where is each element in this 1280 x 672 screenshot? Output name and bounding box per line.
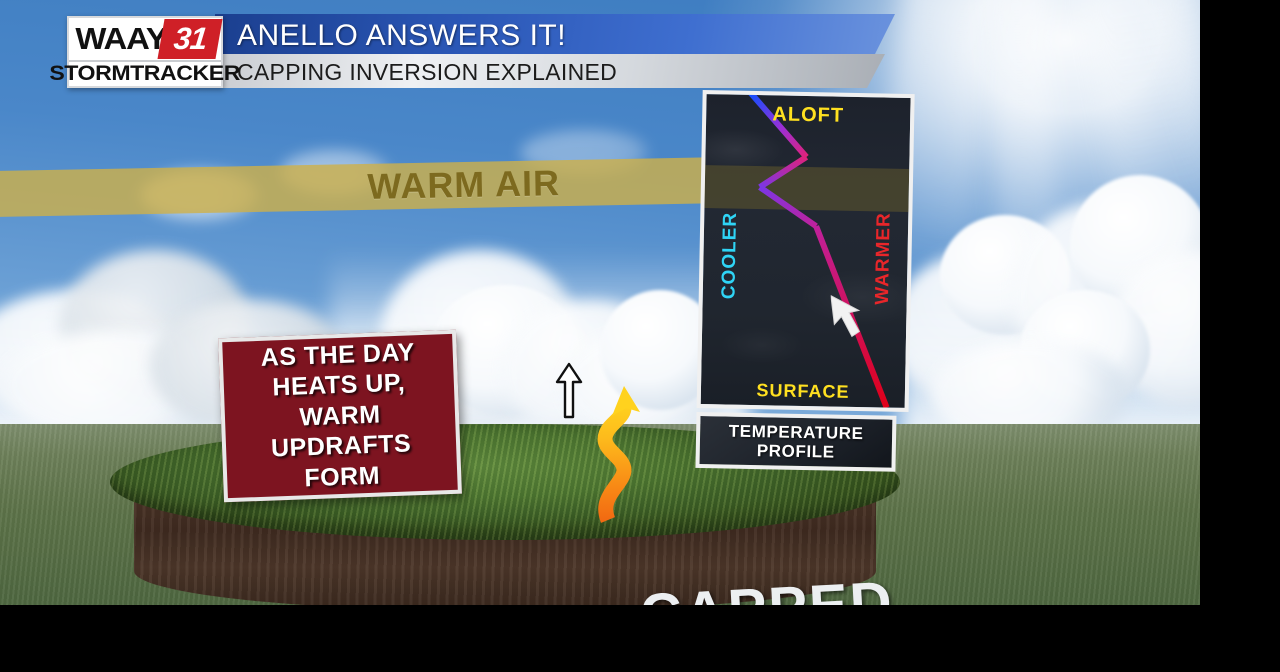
sign-line: HEATS UP, [272,368,406,403]
caption-line: PROFILE [757,441,835,462]
updraft-arrow-icon [590,378,646,523]
temperature-profile-caption: TEMPERATURE PROFILE [695,412,896,472]
logo-brand-text: STORMTRACKER [50,62,241,86]
temperature-profile-panel: ALOFT SURFACE COOLER WARMER TEMPERATURE … [695,90,914,478]
warm-air-label: WARM AIR [367,159,740,208]
profile-surface-label: SURFACE [701,379,905,404]
cursor-arrow-icon [830,291,865,340]
caption-line: TEMPERATURE [729,422,864,444]
logo-channel-text: 31 [172,21,208,57]
logo-top-row: WAAY 31 [69,18,221,60]
profile-aloft-label: ALOFT [706,102,910,129]
profile-cooler-label: COOLER [718,212,742,300]
temperature-profile-plot: ALOFT SURFACE COOLER WARMER [697,90,915,412]
station-logo: WAAY 31 STORMTRACKER [67,16,223,88]
profile-warmer-label: WARMER [872,212,896,305]
banner-title: ANELLO ANSWERS IT! [237,19,566,53]
rising-parcel-arrow-icon [552,362,586,420]
sign-line: FORM [304,460,381,493]
sign-line: UPDRAFTS [271,429,412,465]
logo-bottom-row: STORMTRACKER [69,62,221,86]
letterbox-right [1200,0,1280,672]
logo-network-text: WAAY [69,21,167,57]
sign-line: WARM [299,399,381,432]
banner-subtitle: CAPPING INVERSION EXPLAINED [237,59,617,86]
logo-channel-badge: 31 [157,19,222,59]
updraft-message-sign: AS THE DAY HEATS UP, WARM UPDRAFTS FORM [218,330,462,503]
letterbox-bottom [0,605,1280,672]
broadcast-graphic-stage: CAPPED WARM AIR AS THE DAY HEATS UP, WAR… [0,0,1200,605]
